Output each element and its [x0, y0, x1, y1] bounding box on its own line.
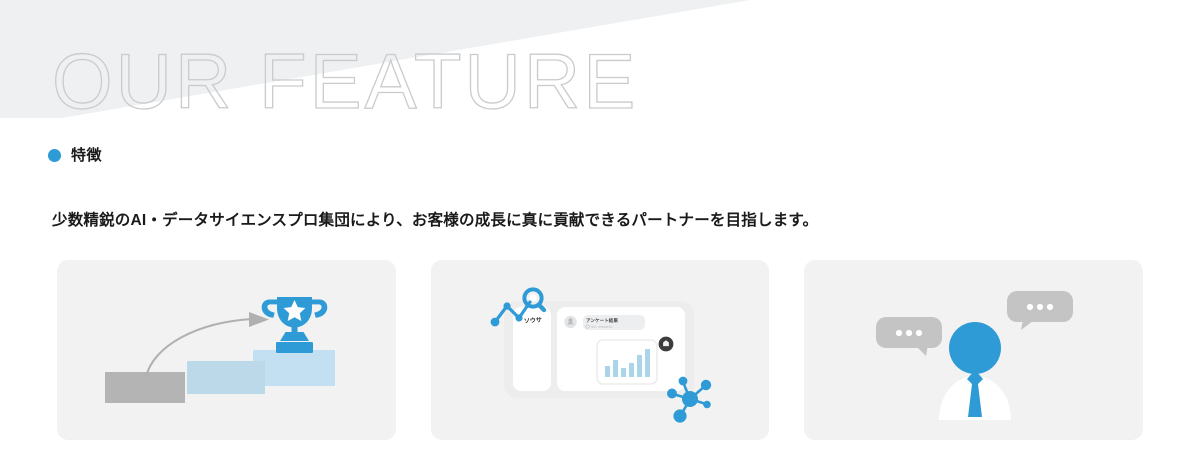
panel-title-text: アンケート結果: [586, 317, 618, 324]
kicker-text: OUR FEATURE: [52, 37, 638, 125]
trophy-icon: [262, 297, 328, 353]
subheading-label: 特徴: [71, 148, 102, 163]
speech-bubble-left-icon: [876, 317, 942, 356]
podium-step-low: [105, 372, 185, 403]
feature-card-growth-podium[interactable]: [57, 260, 396, 440]
podium-step-high: [253, 350, 335, 386]
speech-bubble-right-icon: [1007, 291, 1073, 330]
person-speech-bubbles-illustration: [804, 260, 1143, 440]
magnifier-icon: [524, 289, 544, 310]
feature-card-data-analysis[interactable]: アンケート結果 Nev. answered: [431, 260, 770, 440]
panel-subtitle-text: Nev. answered: [591, 325, 612, 329]
subheading-row: 特徴: [48, 148, 102, 163]
bullet-dot-icon: [48, 149, 61, 162]
gear-icon: [658, 337, 673, 352]
lead-paragraph: 少数精鋭のAI・データサイエンスプロ集団により、お客様の成長に真に貢献できるパー…: [52, 209, 818, 232]
podium-trophy-illustration: [57, 260, 396, 440]
dashboard-analytics-illustration: アンケート結果 Nev. answered: [431, 260, 770, 440]
podium-step-mid: [187, 361, 265, 394]
feature-card-row: アンケート結果 Nev. answered: [57, 260, 1143, 440]
feature-card-consulting-support[interactable]: [804, 260, 1143, 440]
section-kicker-outline-title: OUR FEATURE: [52, 38, 652, 120]
person-avatar-icon: [939, 322, 1011, 420]
